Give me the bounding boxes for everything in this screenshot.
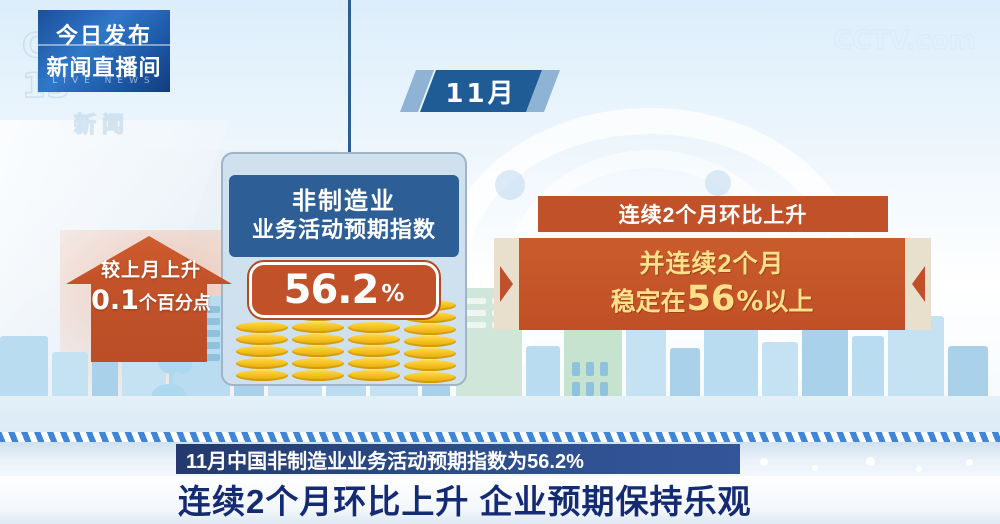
increase-label: 较上月上升 [66, 258, 236, 284]
program-logo-divider [38, 44, 170, 46]
stability-percent-symbol: % [736, 286, 763, 317]
headline-text: 连续2个月环比上升 企业预期保持乐观 [178, 475, 752, 523]
stability-panel: 并连续2个月 稳定在 56 % 以上 [519, 238, 905, 330]
increase-callout-text: 较上月上升 0.1个百分点 [66, 258, 236, 317]
pointer-line [348, 0, 351, 160]
increase-arrow-callout: 较上月上升 0.1个百分点 [66, 236, 232, 362]
stability-value: 56 [687, 279, 736, 319]
panel-left-tab [494, 238, 520, 330]
index-title-line1: 非制造业 [292, 189, 396, 216]
background-dot [705, 170, 731, 196]
program-name-en: LIVE NEWS [38, 76, 170, 86]
subtitle-text: 11月中国非制造业业务活动预期指数为56.2% [186, 445, 584, 474]
background-dot [495, 170, 525, 200]
increase-value: 0.1 [91, 285, 139, 316]
index-value-badge: 56.2 % [249, 262, 439, 318]
stability-prefix: 稳定在 [611, 288, 686, 317]
panel-right-tab [905, 238, 931, 330]
cctv-logo-sub: 新闻 [22, 107, 182, 139]
streak-header-text: 连续2个月环比上升 [619, 199, 808, 229]
broadcast-screen: CCTV 13 新闻 CCTV.com 11月 非制造业 业务活动预期指数 [0, 0, 1000, 524]
stability-line2: 稳定在 56 % 以上 [611, 279, 814, 319]
ground-strip [0, 396, 1000, 434]
streak-header-bar: 连续2个月环比上升 [538, 196, 888, 232]
index-title-line2: 业务活动预期指数 [252, 218, 436, 243]
stability-line1: 并连续2个月 [640, 249, 785, 279]
month-banner-body: 11月 [420, 70, 542, 112]
index-value-percent-symbol: % [381, 281, 404, 307]
cctv-watermark: CCTV.com [806, 26, 976, 70]
subtitle-bar: 11月中国非制造业业务活动预期指数为56.2% [176, 444, 740, 474]
headline-bar: 连续2个月环比上升 企业预期保持乐观 [178, 476, 968, 522]
month-label: 11月 [445, 73, 516, 110]
stability-suffix: 以上 [763, 288, 813, 317]
increase-unit: 个百分点 [139, 293, 211, 313]
program-logo-box: 今日发布 新闻直播间 LIVE NEWS [38, 10, 170, 92]
index-value-number: 56.2 [284, 270, 379, 310]
month-banner: 11月 [400, 70, 560, 112]
index-card-title: 非制造业 业务活动预期指数 [229, 175, 459, 257]
